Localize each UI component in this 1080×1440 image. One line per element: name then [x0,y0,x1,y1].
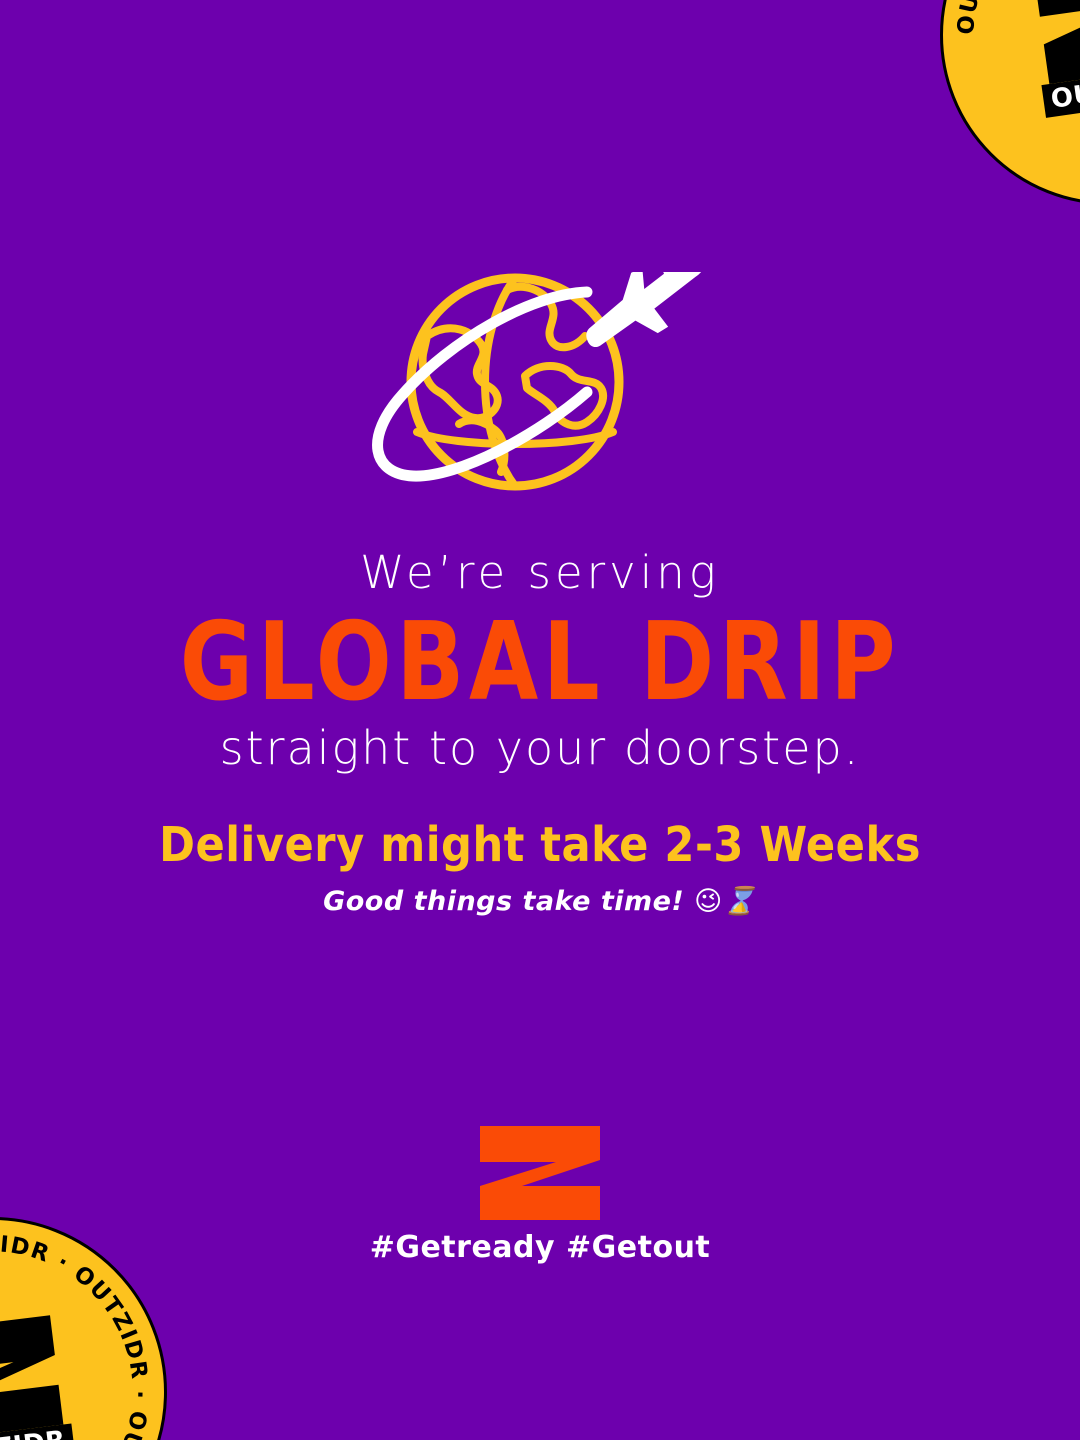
globe-with-airplane-icon [355,272,725,507]
footer-hashtags: #Getready #Getout [0,1230,1080,1265]
brand-badge-top-right: OUTZIDR · OUTZIDR · OUTZIDR · OUTZIDR · … [940,0,1080,205]
footer-logo-block: #Getready #Getout [0,1120,1080,1265]
delivery-note-block: Delivery might take 2-3 Weeks Good thing… [0,818,1080,917]
delivery-headline: Delivery might take 2-3 Weeks [0,818,1080,873]
outzidr-z-logo-icon [480,1120,600,1220]
headline-line-global-drip: GLOBAL DRIP [43,606,1037,719]
poster-canvas: OUTZIDR · OUTZIDR · OUTZIDR · OUTZIDR · … [0,0,1080,1440]
z-mark-icon-bottom-left [0,1310,73,1440]
headline-line-doorstep: straight to your doorstep. [0,723,1080,774]
z-mark-icon-top-right [1026,0,1080,91]
delivery-subline: Good things take time! 😉⌛ [0,885,1080,917]
headline-line-serving: We’re serving [0,548,1080,598]
headline-block: We’re serving GLOBAL DRIP straight to yo… [0,548,1080,773]
